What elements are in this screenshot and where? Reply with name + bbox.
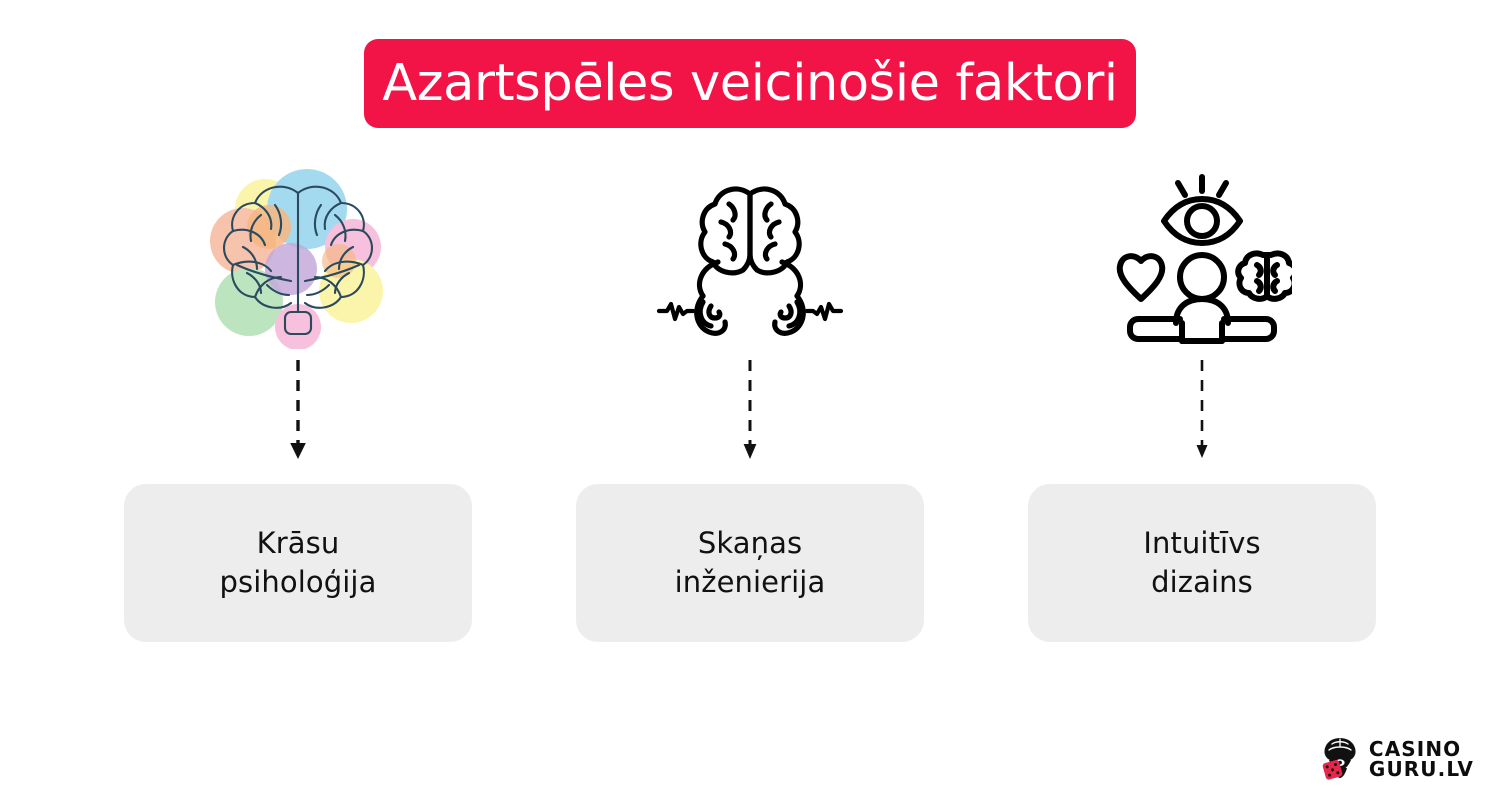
logo-line-casino: CASINO <box>1369 739 1474 759</box>
dashed-down-arrow <box>738 358 762 466</box>
dashed-down-arrow <box>285 358 311 466</box>
arrow-slot <box>1028 358 1376 476</box>
label-text: Krāsu psiholoģija <box>220 524 377 601</box>
casino-guru-mark <box>1320 736 1360 782</box>
arrow-slot <box>576 358 924 476</box>
factor-column-intuitive-design: Intuitīvs dizains <box>1028 160 1376 642</box>
infographic-canvas: Azartspēles veicinošie faktori <box>0 0 1500 800</box>
page-title: Azartspēles veicinošie faktori <box>382 58 1117 109</box>
colorful-brain-icon <box>203 169 393 349</box>
arrow-slot <box>124 358 472 476</box>
dashed-down-arrow <box>1191 358 1213 466</box>
label-card-color-psychology[interactable]: Krāsu psiholoģija <box>124 484 472 642</box>
factor-column-sound-engineering: Skaņas inženierija <box>576 160 924 642</box>
logo-line-guru-lv: GURU.LV <box>1369 759 1474 779</box>
label-card-intuitive-design[interactable]: Intuitīvs dizains <box>1028 484 1376 642</box>
icon-slot <box>124 160 472 358</box>
label-card-sound-engineering[interactable]: Skaņas inženierija <box>576 484 924 642</box>
logo-wordmark: CASINO GURU.LV <box>1369 739 1474 780</box>
brain-ears-soundwave-icon <box>655 174 845 344</box>
icon-slot <box>576 160 924 358</box>
label-text: Intuitīvs dizains <box>1143 524 1260 601</box>
label-text: Skaņas inženierija <box>675 524 826 601</box>
eye-person-heart-brain-icon <box>1112 173 1292 345</box>
factor-column-color-psychology: Krāsu psiholoģija <box>124 160 472 642</box>
icon-slot <box>1028 160 1376 358</box>
title-banner: Azartspēles veicinošie faktori <box>364 39 1136 128</box>
casino-guru-logo[interactable]: CASINO GURU.LV <box>1320 736 1474 782</box>
